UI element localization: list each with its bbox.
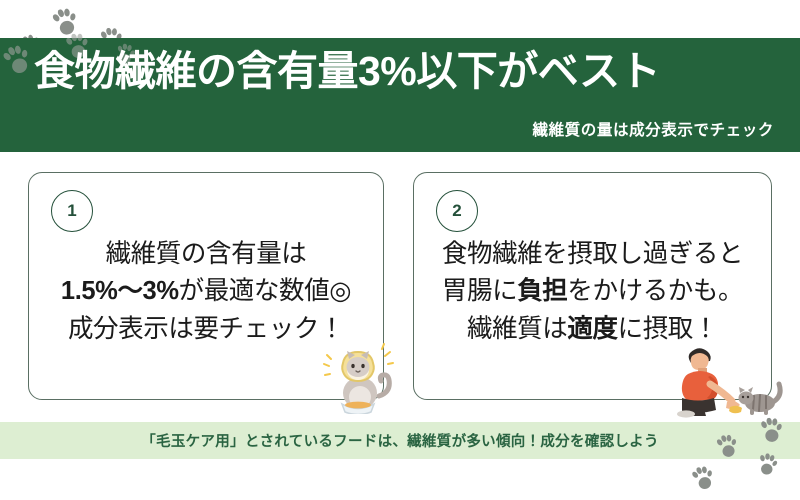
- card-text-line: 成分表示は要チェック！: [39, 311, 373, 348]
- page-title: 食物繊維の含有量3%以下がベスト: [34, 50, 774, 93]
- emphasis-text: 1.5%～3%: [61, 277, 179, 305]
- card-text-line: 繊維質の含有量は: [39, 236, 373, 273]
- body-text: をかけるかも。: [567, 277, 743, 305]
- card-1-body: 繊維質の含有量は1.5%～3%が最適な数値◎成分表示は要チェック！: [39, 236, 373, 348]
- body-text: が最適な数値◎: [179, 277, 351, 305]
- body-text: 食物繊維を摂取し過ぎると: [442, 240, 743, 268]
- page-subtitle: 繊維質の量は成分表示でチェック: [532, 118, 774, 140]
- card-1-number-badge: 1: [51, 190, 93, 232]
- card-text-line: 胃腸に負担をかけるかも。: [424, 273, 761, 310]
- card-text-line: 1.5%～3%が最適な数値◎: [39, 273, 373, 310]
- body-text: 繊維質の含有量は: [106, 240, 307, 268]
- info-card-2: 2 食物繊維を摂取し過ぎると胃腸に負担をかけるかも。繊維質は適度に摂取！: [413, 172, 772, 400]
- info-card-1: 1 繊維質の含有量は1.5%～3%が最適な数値◎成分表示は要チェック！: [28, 172, 384, 400]
- body-text: 繊維質は: [467, 315, 567, 343]
- paw-print-icon: [688, 463, 717, 494]
- card-text-line: 食物繊維を摂取し過ぎると: [424, 236, 761, 273]
- card-text-line: 繊維質は適度に摂取！: [424, 311, 761, 348]
- emphasis-text: 適度: [567, 315, 617, 343]
- emphasis-text: 負担: [517, 277, 567, 305]
- footer-note: 「毛玉ケア用」とされているフードは、繊維質が多い傾向！成分を確認しよう: [0, 430, 800, 451]
- paw-print-icon: [48, 5, 81, 40]
- poster-canvas: 食物繊維の含有量3%以下がベスト 繊維質の量は成分表示でチェック 1 繊維質の含…: [0, 0, 800, 500]
- body-text: 成分表示は要チェック！: [68, 315, 344, 343]
- body-text: に摂取！: [618, 315, 718, 343]
- body-text: 胃腸に: [442, 277, 517, 305]
- card-2-number-badge: 2: [436, 190, 478, 232]
- card-2-body: 食物繊維を摂取し過ぎると胃腸に負担をかけるかも。繊維質は適度に摂取！: [424, 236, 761, 348]
